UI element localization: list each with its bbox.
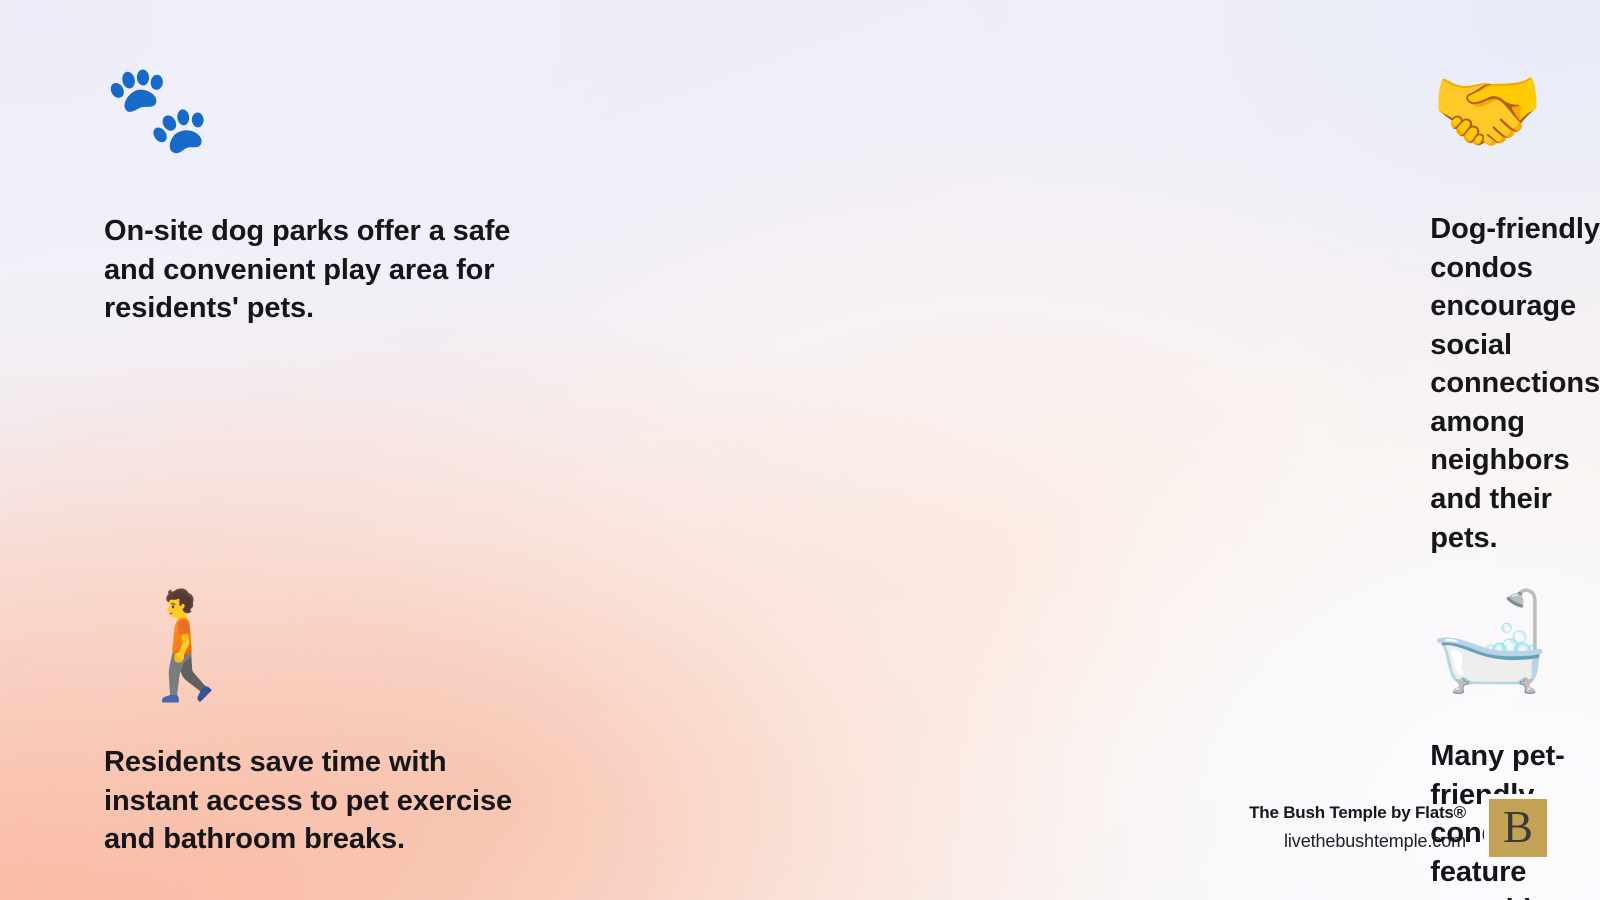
benefit-icon-wrap: 🚶 xyxy=(122,593,527,697)
handshake-icon: 🤝 xyxy=(1430,66,1600,158)
footer-text-block: The Bush Temple by Flats® livethebushtem… xyxy=(1249,801,1466,855)
brand-website-url[interactable]: livethebushtemple.com xyxy=(1249,829,1466,855)
paw-prints-icon: 🐾 xyxy=(104,66,527,152)
benefit-icon-wrap: 🤝 xyxy=(1430,66,1600,158)
brand-logo-badge[interactable]: B xyxy=(1484,794,1552,862)
benefit-text-time-savings: Residents save time with instant access … xyxy=(104,743,527,859)
benefit-card-social-connections: 🤝 Dog-friendly condos encourage social c… xyxy=(527,0,1600,557)
benefit-icon-wrap: 🐾 xyxy=(104,66,527,152)
benefit-text-social-connections: Dog-friendly condos encourage social con… xyxy=(1430,210,1600,557)
benefit-card-dog-parks: 🐾 On-site dog parks offer a safe and con… xyxy=(0,0,527,557)
brand-name: The Bush Temple by Flats® xyxy=(1249,801,1466,825)
benefit-text-dog-parks: On-site dog parks offer a safe and conve… xyxy=(104,212,527,328)
benefit-card-time-savings: 🚶 Residents save time with instant acces… xyxy=(0,557,527,900)
benefits-grid: 🐾 On-site dog parks offer a safe and con… xyxy=(0,0,1600,900)
walking-person-icon: 🚶 xyxy=(122,593,527,697)
brand-logo-letter: B xyxy=(1503,805,1533,850)
bathtub-icon: 🛁 xyxy=(1430,593,1600,689)
infographic-canvas: 🐾 On-site dog parks offer a safe and con… xyxy=(0,0,1600,900)
footer-branding: The Bush Temple by Flats® livethebushtem… xyxy=(1249,794,1552,862)
benefit-icon-wrap: 🛁 xyxy=(1430,593,1600,689)
